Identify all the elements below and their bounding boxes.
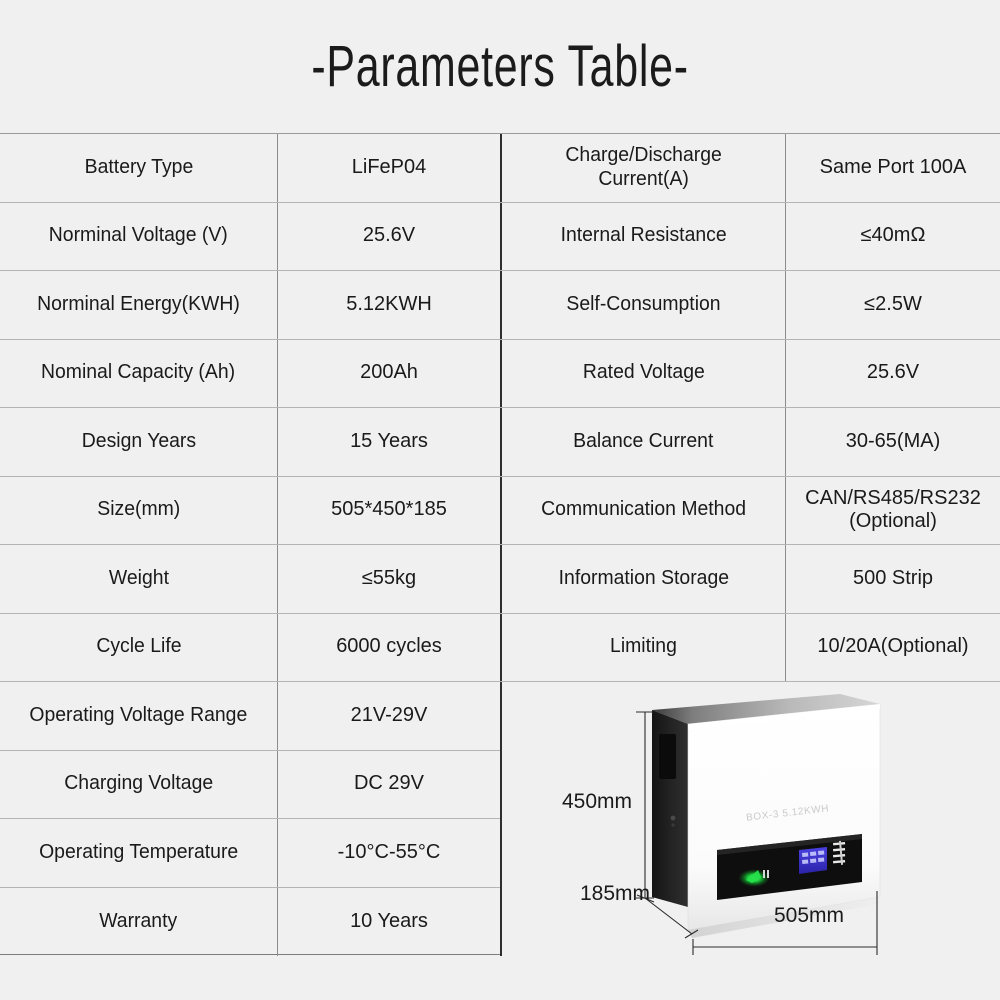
param-label: Internal Resistance (500, 203, 785, 271)
param-value: 5.12KWH (277, 271, 500, 339)
table-row: Design Years 15 Years Balance Current 30… (0, 408, 1000, 477)
table-row: Warranty 10 Years (0, 888, 500, 957)
table-row: Norminal Energy(KWH) 5.12KWH Self-Consum… (0, 271, 1000, 340)
table-row: Nominal Capacity (Ah) 200Ah Rated Voltag… (0, 340, 1000, 409)
dimension-width-label: 505mm (774, 904, 844, 928)
param-value: 15 Years (277, 408, 500, 476)
table-row: Operating Temperature -10°C-55°C (0, 819, 500, 888)
table-row: Weight ≤55kg Information Storage 500 Str… (0, 545, 1000, 614)
page-title-area: -Parameters Table- (0, 0, 1000, 133)
param-label: Design Years (0, 408, 277, 476)
side-screw (671, 823, 674, 826)
table-bottom-block: Operating Voltage Range 21V-29V Charging… (0, 682, 1000, 956)
param-value: 30-65(MA) (785, 408, 1000, 476)
param-label: Charging Voltage (0, 751, 277, 819)
param-label: Weight (0, 545, 277, 613)
bottom-left-rows: Operating Voltage Range 21V-29V Charging… (0, 682, 500, 956)
side-screw (671, 816, 676, 821)
page-title: -Parameters Table- (311, 33, 688, 100)
param-value: 10 Years (277, 888, 500, 957)
param-label: Operating Temperature (0, 819, 277, 887)
param-value: 200Ah (277, 340, 500, 408)
param-value: -10°C-55°C (277, 819, 500, 887)
param-value: 500 Strip (785, 545, 1000, 613)
product-image-cell: BOX-3 5.12KWH 450mm 185mm 505mm (500, 682, 1000, 956)
param-value: CAN/RS485/RS232 (Optional) (785, 477, 1000, 545)
param-value: LiFeP04 (277, 134, 500, 202)
param-value: 10/20A(Optional) (785, 614, 1000, 682)
param-value: 6000 cycles (277, 614, 500, 682)
param-value: Same Port 100A (785, 134, 1000, 202)
table-row: Battery Type LiFeP04 Charge/Discharge Cu… (0, 134, 1000, 203)
param-value: 21V-29V (277, 682, 500, 750)
parameters-table-page: -Parameters Table- Battery Type LiFeP04 … (0, 0, 1000, 1000)
param-label: Rated Voltage (500, 340, 785, 408)
param-value: ≤2.5W (785, 271, 1000, 339)
param-value: 25.6V (277, 203, 500, 271)
param-label: Limiting (500, 614, 785, 682)
param-label: Battery Type (0, 134, 277, 202)
table-row: Norminal Voltage (V) 25.6V Internal Resi… (0, 203, 1000, 272)
parameters-table: Battery Type LiFeP04 Charge/Discharge Cu… (0, 133, 1000, 955)
table-row: Charging Voltage DC 29V (0, 751, 500, 820)
param-label: Cycle Life (0, 614, 277, 682)
param-label: Norminal Voltage (V) (0, 203, 277, 271)
param-label: Balance Current (500, 408, 785, 476)
dimension-depth-label: 185mm (580, 882, 650, 906)
param-label: Communication Method (500, 477, 785, 545)
param-label: Charge/Discharge Current(A) (500, 134, 785, 202)
product-illustration: BOX-3 5.12KWH 450mm 185mm 505mm (502, 682, 1000, 956)
table-row: Cycle Life 6000 cycles Limiting 10/20A(O… (0, 614, 1000, 683)
param-label: Operating Voltage Range (0, 682, 277, 750)
param-value: ≤55kg (277, 545, 500, 613)
param-label: Nominal Capacity (Ah) (0, 340, 277, 408)
param-label: Norminal Energy(KWH) (0, 271, 277, 339)
param-value: 25.6V (785, 340, 1000, 408)
dimension-height-label: 450mm (562, 790, 632, 814)
table-row: Operating Voltage Range 21V-29V (0, 682, 500, 751)
param-label: Information Storage (500, 545, 785, 613)
vent-slot (659, 734, 676, 779)
param-value: ≤40mΩ (785, 203, 1000, 271)
param-label: Size(mm) (0, 477, 277, 545)
panel-mark (763, 870, 765, 878)
panel-mark (767, 870, 769, 878)
param-label: Warranty (0, 888, 277, 957)
param-label: Self-Consumption (500, 271, 785, 339)
param-value: 505*450*185 (277, 477, 500, 545)
param-value: DC 29V (277, 751, 500, 819)
table-row: Size(mm) 505*450*185 Communication Metho… (0, 477, 1000, 546)
